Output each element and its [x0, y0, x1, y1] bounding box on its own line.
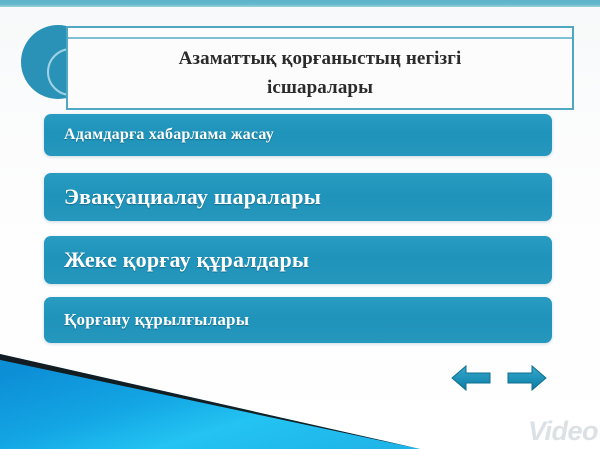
presentation-slide: Азаматтық қорғаныстың негізгі ісшаралары…: [0, 0, 600, 449]
list-item[interactable]: Адамдарға хабарлама жасау: [44, 114, 552, 156]
slide-navigation: [450, 363, 548, 393]
arrow-right-icon[interactable]: [506, 363, 548, 393]
list-item-label: Жеке қорғау құралдары: [64, 247, 309, 273]
list-item[interactable]: Жеке қорғау құралдары: [44, 236, 552, 284]
list-item[interactable]: Қорғану құрылғылары: [44, 297, 552, 343]
list-item-label: Эвакуациалау шаралары: [64, 184, 321, 210]
diagonal-wedge-decoration: [0, 354, 420, 449]
list-item-label: Қорғану құрылғылары: [64, 310, 249, 330]
list-item-label: Адамдарға хабарлама жасау: [64, 126, 274, 144]
arrow-left-icon[interactable]: [450, 363, 492, 393]
list-item[interactable]: Эвакуациалау шаралары: [44, 173, 552, 221]
